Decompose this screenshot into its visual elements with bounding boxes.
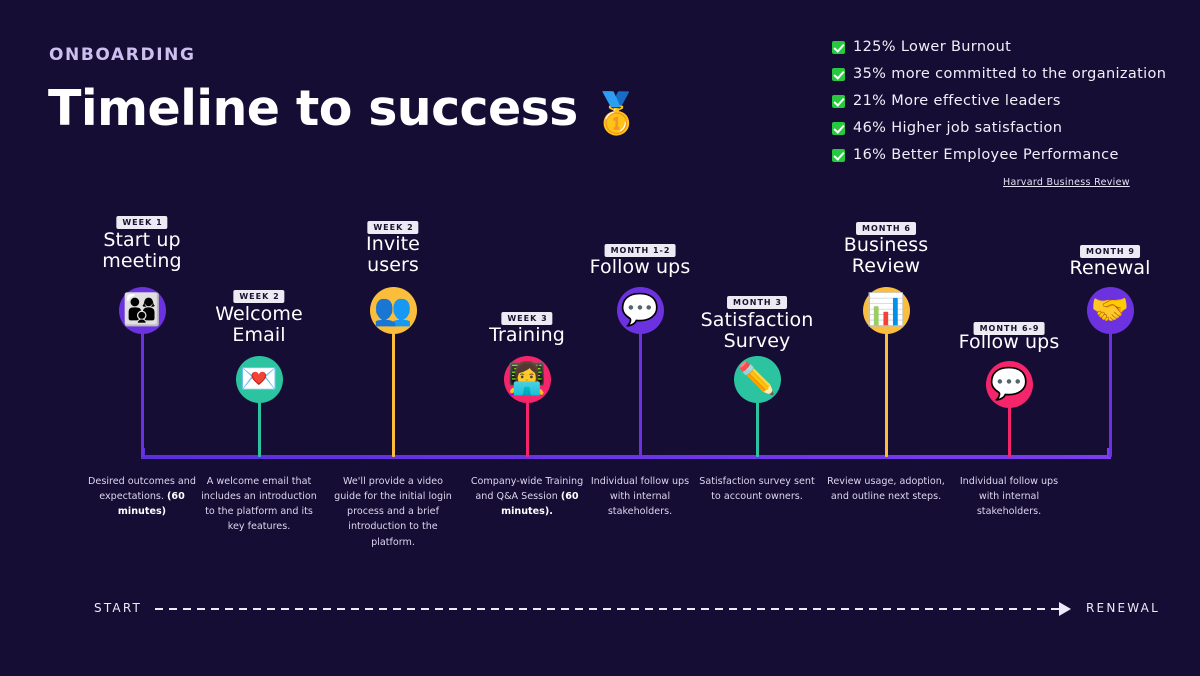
check-square-icon (832, 41, 845, 54)
footer-dashed-line (155, 608, 1060, 610)
check-square-icon (832, 149, 845, 162)
stats-list: 125% Lower Burnout35% more committed to … (832, 38, 1177, 173)
milestone-stem (1008, 402, 1011, 457)
milestone-stem (258, 397, 261, 457)
milestone-caption-emphasis: (60 minutes). (501, 491, 578, 517)
milestone-title-line: Email (215, 325, 303, 346)
infographic-canvas: ONBOARDING Timeline to success🥇 125% Low… (0, 0, 1200, 676)
milestone-caption: Desired outcomes and expectations. (60 m… (83, 474, 201, 519)
footer-end-label: RENEWAL (1086, 601, 1160, 615)
milestone-bubble[interactable]: 🤝 (1087, 287, 1134, 334)
milestone-caption: Company-wide Training and Q&A Session (6… (468, 474, 586, 519)
pencil-icon: ✏️ (738, 364, 777, 395)
milestone-title: SatisfactionSurvey (701, 310, 814, 353)
milestone-caption: A welcome email that includes an introdu… (200, 474, 318, 535)
milestone-bubble[interactable]: 📊 (863, 287, 910, 334)
milestone-caption: Satisfaction survey sent to account owne… (698, 474, 816, 504)
gold-medal-icon: 🥇 (592, 91, 641, 137)
milestone-stem (756, 397, 759, 457)
footer-start-label: START (94, 601, 142, 615)
milestone-title-line: Review (844, 256, 929, 277)
milestone-caption: Individual follow ups with internal stak… (950, 474, 1068, 519)
section-kicker: ONBOARDING (49, 45, 196, 65)
person-laptop-icon: 👩‍💻 (508, 364, 547, 395)
milestone-title: BusinessReview (844, 235, 929, 278)
milestone-stem (1109, 328, 1112, 457)
milestone-stem (392, 328, 395, 457)
milestone-title-line: Satisfaction (701, 310, 814, 331)
handshake-icon: 🤝 (1091, 295, 1130, 326)
stat-row: 125% Lower Burnout (832, 38, 1177, 56)
milestone-badge: MONTH 3 (727, 296, 787, 309)
milestone-bubble[interactable]: 💬 (617, 287, 664, 334)
arrow-right-icon (1059, 602, 1071, 616)
milestone-title: Follow ups (590, 257, 691, 278)
milestone-title-line: Follow ups (590, 257, 691, 278)
milestone-title: Follow ups (959, 332, 1060, 353)
speech-balloon-icon: 💬 (990, 369, 1029, 400)
milestone-title: WelcomeEmail (215, 304, 303, 347)
milestone-badge: WEEK 1 (116, 216, 167, 229)
bar-chart-icon: 📊 (867, 295, 906, 326)
milestone-badge: WEEK 2 (233, 290, 284, 303)
stat-row: 46% Higher job satisfaction (832, 119, 1177, 137)
milestone-bubble[interactable]: 💌 (236, 356, 283, 403)
check-square-icon (832, 68, 845, 81)
stat-row: 16% Better Employee Performance (832, 146, 1177, 164)
timeline-baseline (141, 455, 1111, 459)
milestone-title: Training (489, 325, 565, 346)
source-link[interactable]: Harvard Business Review (1003, 177, 1130, 188)
milestone-stem (526, 397, 529, 457)
milestone-caption: Review usage, adoption, and outline next… (827, 474, 945, 504)
milestone-title-line: meeting (102, 251, 181, 272)
milestone-title-line: Survey (701, 331, 814, 352)
milestone-title-line: users (366, 255, 420, 276)
milestone-bubble[interactable]: ✏️ (734, 356, 781, 403)
stat-row: 21% More effective leaders (832, 92, 1177, 110)
milestone-caption-emphasis: (60 minutes) (118, 491, 185, 517)
milestone-bubble[interactable]: 👥 (370, 287, 417, 334)
stat-label: 35% more committed to the organization (853, 66, 1166, 82)
stat-label: 21% More effective leaders (853, 93, 1061, 109)
milestone-caption: We'll provide a video guide for the init… (334, 474, 452, 550)
love-letter-icon: 💌 (240, 364, 279, 395)
page-title: Timeline to success🥇 (48, 80, 641, 137)
milestone-title-line: Follow ups (959, 332, 1060, 353)
check-square-icon (832, 122, 845, 135)
milestone-bubble[interactable]: 👩‍💻 (504, 356, 551, 403)
milestone-title-line: Renewal (1070, 258, 1151, 279)
milestone-title-line: Invite (366, 234, 420, 255)
family-group-icon: 👨‍👩‍👦 (123, 295, 162, 326)
busts-in-silhouette-icon: 👥 (374, 295, 413, 326)
milestone-stem (141, 328, 144, 457)
milestone-stem (885, 328, 888, 457)
milestone-title: Renewal (1070, 258, 1151, 279)
milestone-title-line: Training (489, 325, 565, 346)
stat-label: 125% Lower Burnout (853, 39, 1011, 55)
milestone-title: Start upmeeting (102, 230, 181, 273)
milestone-title-line: Welcome (215, 304, 303, 325)
speech-balloon-icon: 💬 (621, 295, 660, 326)
milestone-title-line: Business (844, 235, 929, 256)
page-title-text: Timeline to success (48, 80, 578, 137)
milestone-caption: Individual follow ups with internal stak… (581, 474, 699, 519)
check-square-icon (832, 95, 845, 108)
milestone-bubble[interactable]: 👨‍👩‍👦 (119, 287, 166, 334)
milestone-stem (639, 328, 642, 457)
milestone-title-line: Start up (102, 230, 181, 251)
stat-label: 46% Higher job satisfaction (853, 120, 1062, 136)
stat-row: 35% more committed to the organization (832, 65, 1177, 83)
stat-label: 16% Better Employee Performance (853, 147, 1119, 163)
milestone-title: Inviteusers (366, 234, 420, 277)
milestone-bubble[interactable]: 💬 (986, 361, 1033, 408)
